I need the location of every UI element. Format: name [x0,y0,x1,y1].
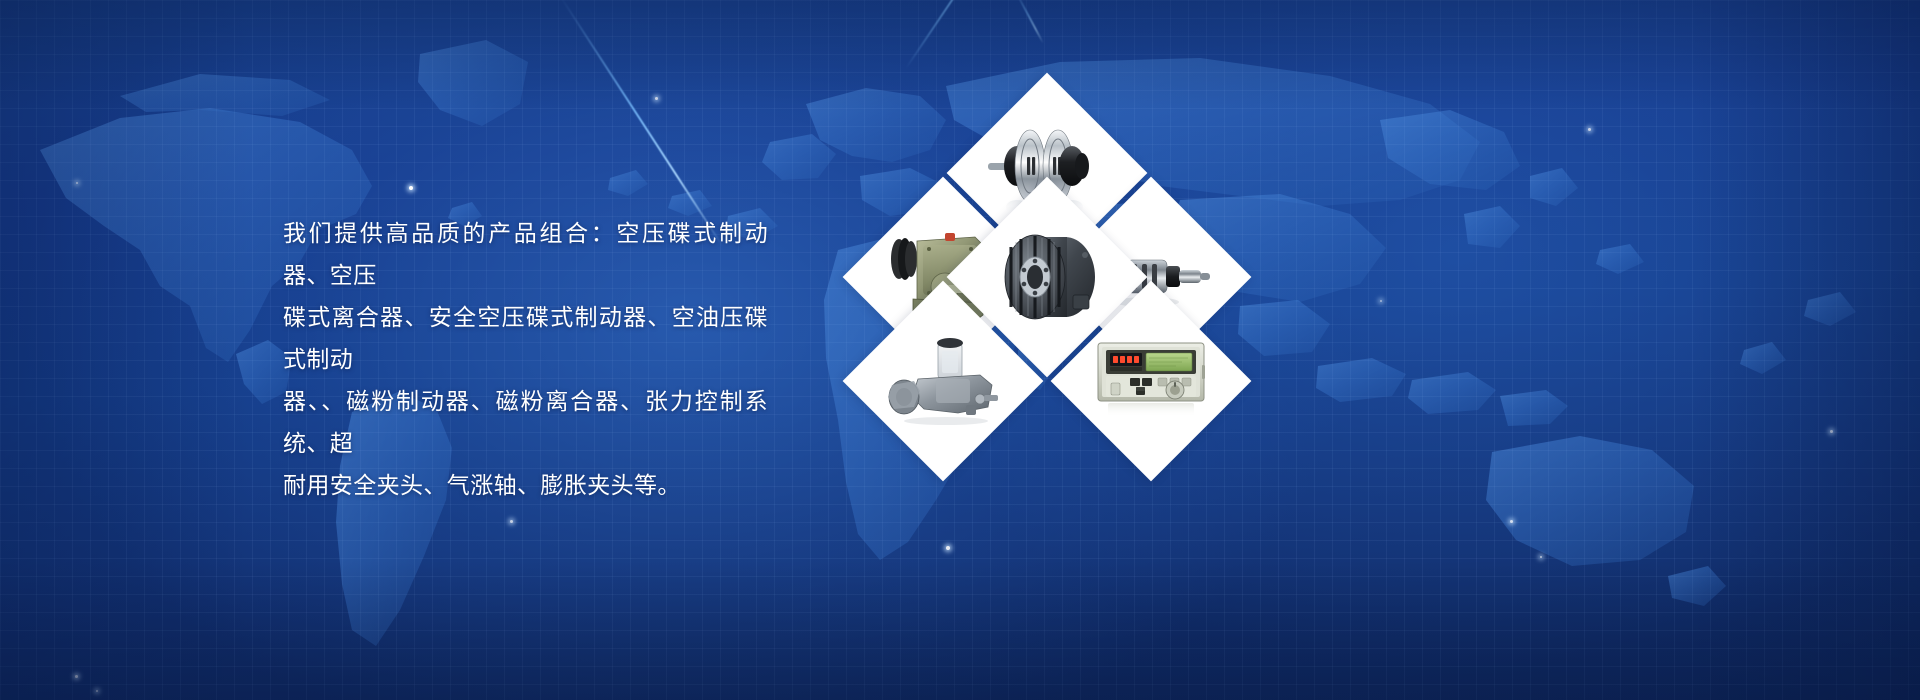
promo-copy-line: 我们提供高品质的产品组合：空压碟式制动器、空压 [283,213,768,297]
sparkle-icon [1830,430,1833,433]
sparkle-icon [1588,128,1591,131]
sparkle-icon [510,520,513,523]
sparkle-icon [75,675,78,678]
promo-copy-block: 我们提供高品质的产品组合：空压碟式制动器、空压 碟式离合器、安全空压碟式制动器、… [283,213,768,507]
sparkle-icon [1510,520,1513,523]
sparkle-icon [409,186,413,190]
light-streak-2 [905,0,1013,69]
product-diamond-grid [838,128,1256,440]
promo-copy-line: 器、、磁粉制动器、磁粉离合器、张力控制系统、超 [283,381,768,465]
light-streak-3 [1014,0,1044,44]
hydraulic-brake-cylinder-icon [884,335,1002,427]
sparkle-icon [946,546,950,550]
hero-banner: 我们提供高品质的产品组合：空压碟式制动器、空压 碟式离合器、安全空压碟式制动器、… [0,0,1920,700]
sparkle-icon [1380,300,1382,302]
sparkle-icon [96,690,98,692]
magnetic-powder-brake-icon [991,225,1103,329]
promo-copy-line: 耐用安全夹头、气涨轴、膨胀夹头等。 [283,465,768,507]
tension-controller-icon [1092,335,1210,427]
promo-copy-line: 碟式离合器、安全空压碟式制动器、空油压碟式制动 [283,297,768,381]
sparkle-icon [76,182,78,184]
sparkle-icon [1540,556,1542,558]
light-streak-1 [558,0,723,247]
sparkle-icon [655,97,658,100]
